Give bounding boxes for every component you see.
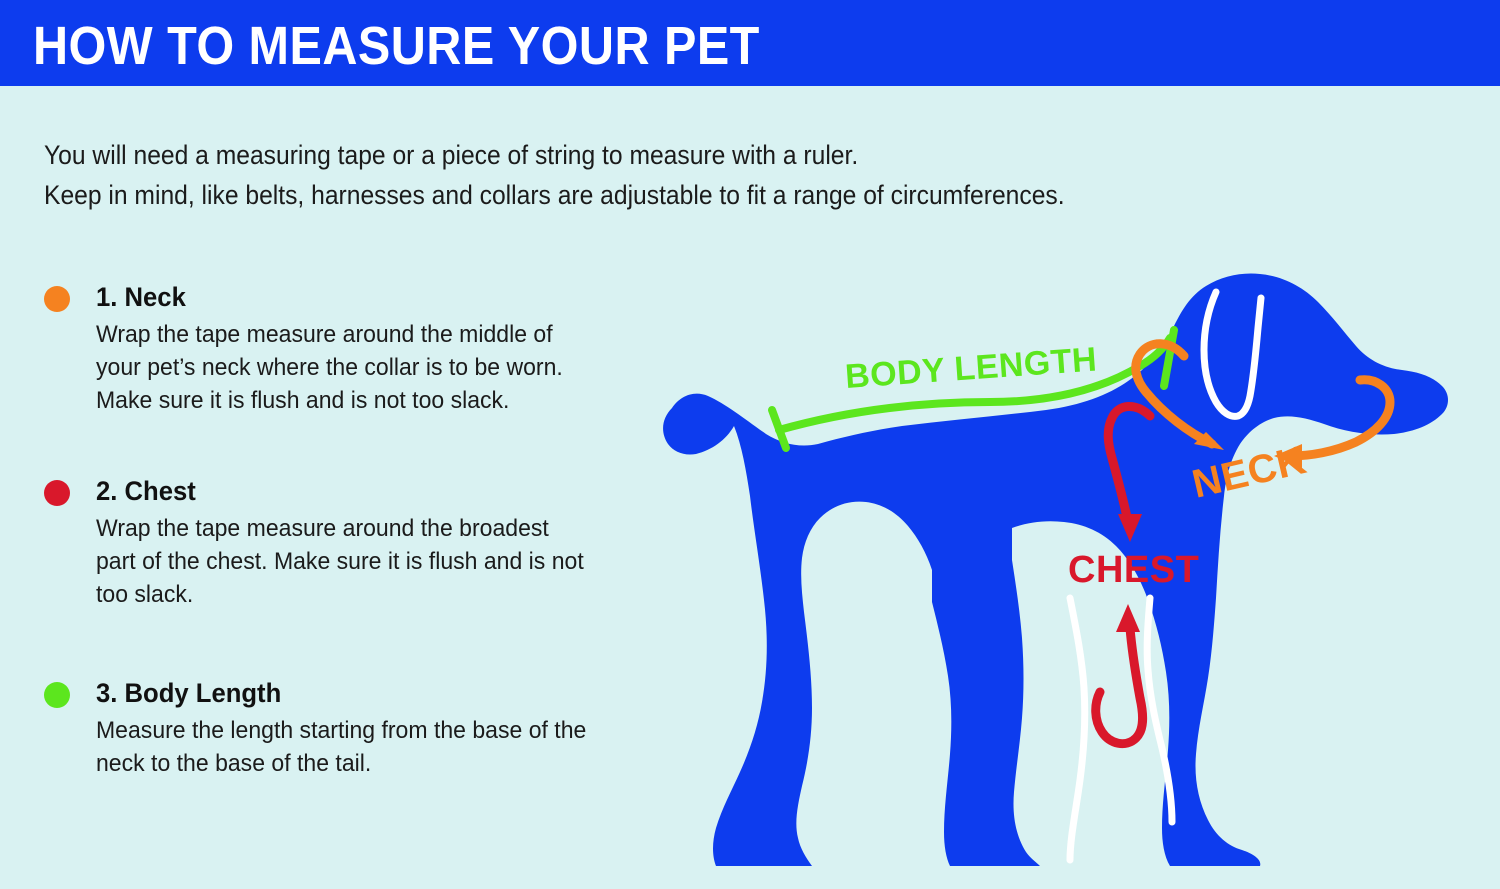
step-heading-body-length: 3. Body Length xyxy=(96,676,655,710)
infographic-page: HOW TO MEASURE YOUR PET You will need a … xyxy=(0,0,1500,889)
intro-line-1: You will need a measuring tape or a piec… xyxy=(44,135,1290,175)
page-title: HOW TO MEASURE YOUR PET xyxy=(33,17,760,75)
bullet-dot-body-length xyxy=(44,682,70,708)
step-body-body-length: 3. Body Length Measure the length starti… xyxy=(96,676,684,780)
dog-diagram: BODY LENGTH NECK xyxy=(650,230,1500,870)
step-text-body-length: Measure the length starting from the bas… xyxy=(96,714,649,780)
step-text-chest-line-2: part of the chest. Make sure it is flush… xyxy=(96,545,649,578)
step-heading-chest: 2. Chest xyxy=(96,474,655,508)
step-body-neck: 1. Neck Wrap the tape measure around the… xyxy=(96,280,684,417)
bullet-dot-neck xyxy=(44,286,70,312)
bullet-dot-chest xyxy=(44,480,70,506)
step-text-neck-line-1: Wrap the tape measure around the middle … xyxy=(96,318,649,351)
body-length-label: BODY LENGTH xyxy=(844,340,1098,396)
intro-line-2: Keep in mind, like belts, harnesses and … xyxy=(44,175,1290,215)
chest-arrow-head-bottom xyxy=(1116,604,1140,632)
chest-loop-bottom xyxy=(1096,628,1143,744)
step-text-body-length-line-1: Measure the length starting from the bas… xyxy=(96,714,649,747)
step-heading-neck: 1. Neck xyxy=(96,280,655,314)
intro-paragraph: You will need a measuring tape or a piec… xyxy=(44,135,1290,215)
step-text-chest: Wrap the tape measure around the broades… xyxy=(96,512,649,611)
step-text-neck: Wrap the tape measure around the middle … xyxy=(96,318,649,417)
step-item-body-length: 3. Body Length Measure the length starti… xyxy=(44,676,684,780)
step-text-body-length-line-2: neck to the base of the tail. xyxy=(96,747,649,780)
step-text-neck-line-2: your pet’s neck where the collar is to b… xyxy=(96,351,649,384)
dog-front-leg-divider-icon xyxy=(1070,598,1085,860)
step-text-chest-line-1: Wrap the tape measure around the broades… xyxy=(96,512,649,545)
step-text-chest-line-3: too slack. xyxy=(96,578,649,611)
header-bar: HOW TO MEASURE YOUR PET xyxy=(0,0,1500,86)
chest-label: CHEST xyxy=(1068,549,1199,591)
step-item-chest: 2. Chest Wrap the tape measure around th… xyxy=(44,474,684,611)
step-item-neck: 1. Neck Wrap the tape measure around the… xyxy=(44,280,684,417)
step-body-chest: 2. Chest Wrap the tape measure around th… xyxy=(96,474,684,611)
step-text-neck-line-3: Make sure it is flush and is not too sla… xyxy=(96,384,649,417)
